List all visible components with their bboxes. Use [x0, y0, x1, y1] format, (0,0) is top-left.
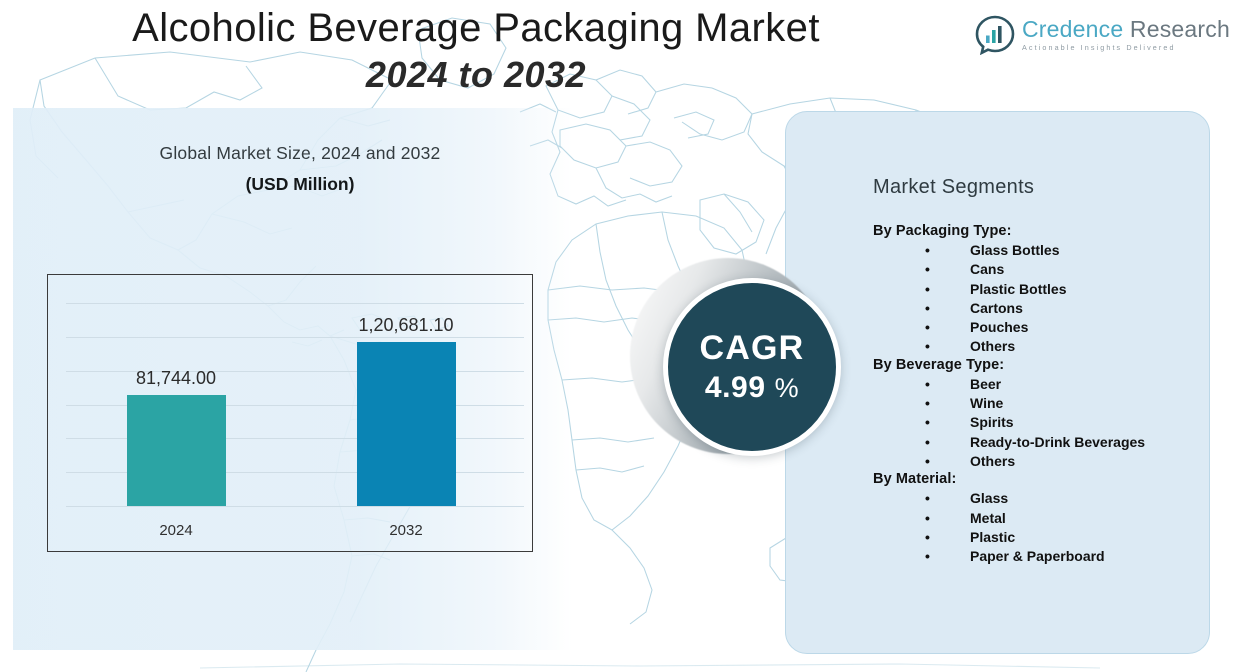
x-axis-label-2032: 2032	[346, 522, 466, 539]
chart-title: Global Market Size, 2024 and 2032	[60, 143, 540, 164]
segment-group-heading: By Packaging Type:	[873, 223, 1203, 239]
segment-list-item: •Others	[873, 337, 1203, 356]
segment-list-item: •Wine	[873, 394, 1203, 413]
logo-name-word2: Research	[1123, 16, 1230, 42]
segment-list-item: •Glass Bottles	[873, 241, 1203, 260]
segment-item-label: Pouches	[970, 319, 1028, 335]
market-segments: Market Segments By Packaging Type:•Glass…	[873, 176, 1203, 566]
segment-list-item: •Cans	[873, 260, 1203, 279]
bullet-icon: •	[925, 318, 930, 337]
bullet-icon: •	[925, 547, 930, 566]
bullet-icon: •	[925, 452, 930, 471]
segment-item-label: Others	[970, 453, 1015, 469]
bullet-icon: •	[925, 375, 930, 394]
segment-list-item: •Glass	[873, 489, 1203, 508]
segment-list: •Glass•Metal•Plastic•Paper & Paperboard	[873, 489, 1203, 566]
cagr-label: CAGR	[700, 331, 805, 365]
bullet-icon: •	[925, 299, 930, 318]
bullet-icon: •	[925, 509, 930, 528]
bar-2024	[127, 395, 226, 506]
segment-item-label: Cartons	[970, 300, 1023, 316]
logo-text: Credence Research Actionable Insights De…	[1022, 18, 1230, 51]
segment-list: •Glass Bottles•Cans•Plastic Bottles•Cart…	[873, 241, 1203, 357]
segment-list-item: •Metal	[873, 509, 1203, 528]
segment-list-item: •Cartons	[873, 299, 1203, 318]
segment-list-item: •Plastic Bottles	[873, 280, 1203, 299]
segment-item-label: Spirits	[970, 414, 1014, 430]
bullet-icon: •	[925, 337, 930, 356]
page-title: Alcoholic Beverage Packaging Market	[66, 6, 886, 51]
x-axis-label-2024: 2024	[116, 522, 236, 539]
segment-item-label: Ready-to-Drink Beverages	[970, 434, 1145, 450]
segment-item-label: Glass	[970, 490, 1008, 506]
cagr-number: 4.99	[705, 371, 766, 404]
segment-item-label: Wine	[970, 395, 1003, 411]
chart-heading: Global Market Size, 2024 and 2032 (USD M…	[60, 143, 540, 195]
market-segments-title: Market Segments	[873, 176, 1203, 199]
page-subtitle-years: 2024 to 2032	[66, 54, 886, 96]
segment-list-item: •Beer	[873, 375, 1203, 394]
logo-tagline: Actionable Insights Delivered	[1022, 44, 1230, 51]
segment-item-label: Plastic Bottles	[970, 281, 1066, 297]
segment-group-heading: By Beverage Type:	[873, 357, 1203, 373]
chart-plot-area: 81,744.0020241,20,681.102032	[48, 275, 532, 551]
segment-groups: By Packaging Type:•Glass Bottles•Cans•Pl…	[873, 223, 1203, 566]
segment-list-item: •Ready-to-Drink Beverages	[873, 433, 1203, 452]
bullet-icon: •	[925, 489, 930, 508]
segment-item-label: Paper & Paperboard	[970, 548, 1105, 564]
segment-list-item: •Plastic	[873, 528, 1203, 547]
cagr-badge: CAGR 4.99 %	[630, 258, 860, 483]
segment-item-label: Others	[970, 338, 1015, 354]
cagr-circle: CAGR 4.99 %	[663, 278, 841, 456]
bullet-icon: •	[925, 394, 930, 413]
logo-name-word1: Credence	[1022, 16, 1123, 42]
segment-group-heading: By Material:	[873, 471, 1203, 487]
bullet-icon: •	[925, 260, 930, 279]
credence-research-logo[interactable]: Credence Research Actionable Insights De…	[975, 11, 1205, 59]
logo-name: Credence Research	[1022, 18, 1230, 41]
bullet-icon: •	[925, 413, 930, 432]
bar-value-label-2024: 81,744.00	[86, 368, 266, 389]
segment-item-label: Plastic	[970, 529, 1015, 545]
segment-list-item: •Pouches	[873, 318, 1203, 337]
infographic-root: Alcoholic Beverage Packaging Market 2024…	[0, 0, 1233, 672]
bullet-icon: •	[925, 280, 930, 299]
bar-2032	[357, 342, 456, 506]
bar-value-label-2032: 1,20,681.10	[316, 315, 496, 336]
segment-list-item: •Others	[873, 452, 1203, 471]
bar-chart-speech-bubble-icon	[975, 15, 1015, 55]
chart-units: (USD Million)	[60, 174, 540, 195]
bullet-icon: •	[925, 433, 930, 452]
segment-item-label: Metal	[970, 510, 1006, 526]
bullet-icon: •	[925, 528, 930, 547]
bar-chart: 81,744.0020241,20,681.102032	[47, 274, 533, 552]
segment-item-label: Glass Bottles	[970, 242, 1059, 258]
segment-list-item: •Spirits	[873, 413, 1203, 432]
cagr-percent-sign: %	[775, 373, 800, 403]
bullet-icon: •	[925, 241, 930, 260]
segment-item-label: Beer	[970, 376, 1001, 392]
cagr-value: 4.99 %	[705, 373, 799, 403]
segment-list-item: •Paper & Paperboard	[873, 547, 1203, 566]
segment-item-label: Cans	[970, 261, 1004, 277]
segment-list: •Beer•Wine•Spirits•Ready-to-Drink Bevera…	[873, 375, 1203, 471]
